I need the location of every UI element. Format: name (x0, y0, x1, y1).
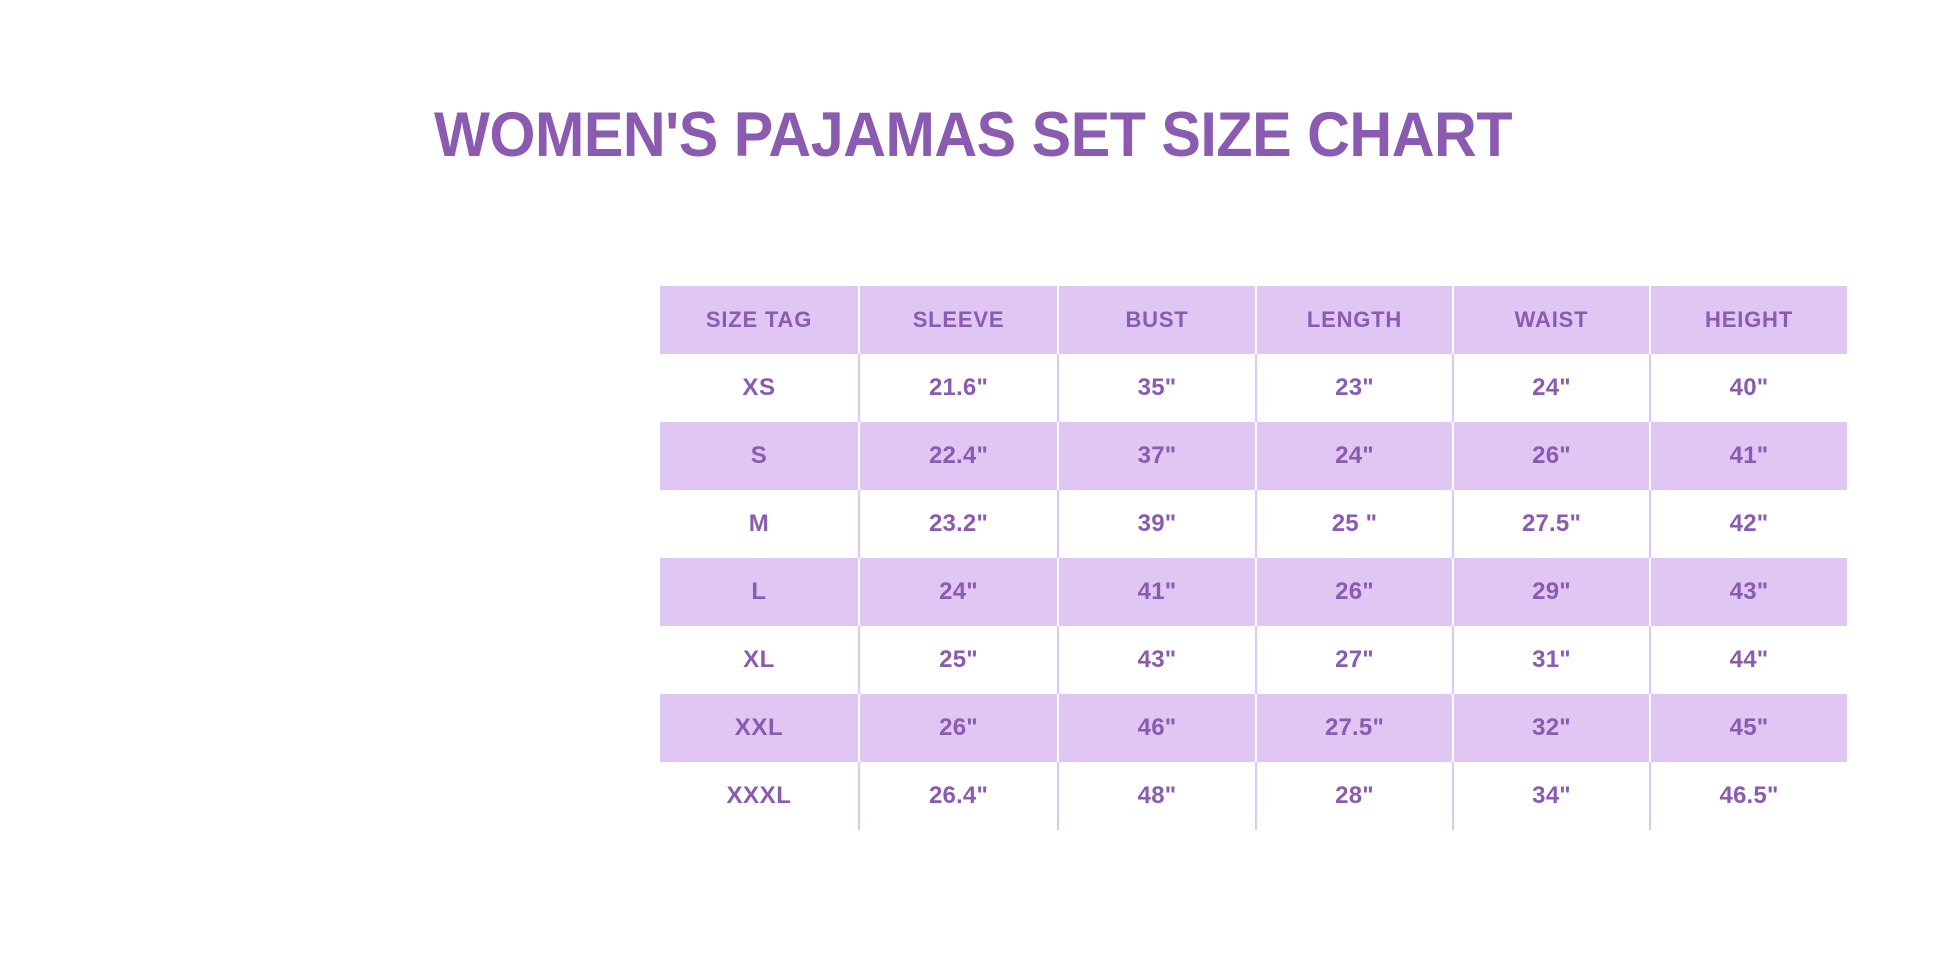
column-header-length: LENGTH (1256, 286, 1453, 354)
cell-size-tag: XL (660, 626, 859, 694)
cell-bust: 37" (1058, 422, 1256, 490)
cell-waist: 32" (1453, 694, 1650, 762)
cell-length: 28" (1256, 762, 1453, 830)
column-header-height: HEIGHT (1650, 286, 1847, 354)
cell-bust: 43" (1058, 626, 1256, 694)
column-header-size-tag: SIZE TAG (660, 286, 859, 354)
table-row: L 24" 41" 26" 29" 43" (660, 558, 1847, 626)
size-chart-table: SIZE TAG SLEEVE BUST LENGTH WAIST HEIGHT… (660, 286, 1847, 830)
cell-sleeve: 23.2" (859, 490, 1058, 558)
cell-length: 26" (1256, 558, 1453, 626)
cell-sleeve: 26" (859, 694, 1058, 762)
cell-length: 25 " (1256, 490, 1453, 558)
cell-bust: 48" (1058, 762, 1256, 830)
cell-size-tag: XXL (660, 694, 859, 762)
table-row: XS 21.6" 35" 23" 24" 40" (660, 354, 1847, 422)
cell-bust: 39" (1058, 490, 1256, 558)
cell-sleeve: 26.4" (859, 762, 1058, 830)
cell-length: 23" (1256, 354, 1453, 422)
cell-size-tag: S (660, 422, 859, 490)
table-row: S 22.4" 37" 24" 26" 41" (660, 422, 1847, 490)
cell-size-tag: XS (660, 354, 859, 422)
cell-waist: 26" (1453, 422, 1650, 490)
cell-size-tag: L (660, 558, 859, 626)
cell-height: 46.5" (1650, 762, 1847, 830)
size-chart-table-container: SIZE TAG SLEEVE BUST LENGTH WAIST HEIGHT… (660, 286, 1847, 830)
cell-height: 41" (1650, 422, 1847, 490)
cell-size-tag: M (660, 490, 859, 558)
cell-height: 40" (1650, 354, 1847, 422)
cell-height: 42" (1650, 490, 1847, 558)
table-row: XL 25" 43" 27" 31" 44" (660, 626, 1847, 694)
table-body: XS 21.6" 35" 23" 24" 40" S 22.4" 37" 24"… (660, 354, 1847, 830)
cell-size-tag: XXXL (660, 762, 859, 830)
cell-bust: 35" (1058, 354, 1256, 422)
cell-waist: 24" (1453, 354, 1650, 422)
table-header: SIZE TAG SLEEVE BUST LENGTH WAIST HEIGHT (660, 286, 1847, 354)
cell-waist: 27.5" (1453, 490, 1650, 558)
cell-bust: 41" (1058, 558, 1256, 626)
column-header-waist: WAIST (1453, 286, 1650, 354)
cell-waist: 34" (1453, 762, 1650, 830)
size-chart-page: WOMEN'S PAJAMAS SET SIZE CHART SIZE TAG … (0, 0, 1946, 973)
cell-bust: 46" (1058, 694, 1256, 762)
cell-sleeve: 21.6" (859, 354, 1058, 422)
table-row: XXL 26" 46" 27.5" 32" 45" (660, 694, 1847, 762)
table-row: M 23.2" 39" 25 " 27.5" 42" (660, 490, 1847, 558)
cell-length: 27" (1256, 626, 1453, 694)
cell-length: 24" (1256, 422, 1453, 490)
cell-sleeve: 25" (859, 626, 1058, 694)
cell-sleeve: 22.4" (859, 422, 1058, 490)
cell-height: 44" (1650, 626, 1847, 694)
cell-waist: 29" (1453, 558, 1650, 626)
table-row: XXXL 26.4" 48" 28" 34" 46.5" (660, 762, 1847, 830)
column-header-bust: BUST (1058, 286, 1256, 354)
cell-sleeve: 24" (859, 558, 1058, 626)
column-header-sleeve: SLEEVE (859, 286, 1058, 354)
page-title: WOMEN'S PAJAMAS SET SIZE CHART (58, 104, 1887, 167)
cell-height: 43" (1650, 558, 1847, 626)
table-header-row: SIZE TAG SLEEVE BUST LENGTH WAIST HEIGHT (660, 286, 1847, 354)
cell-length: 27.5" (1256, 694, 1453, 762)
cell-waist: 31" (1453, 626, 1650, 694)
cell-height: 45" (1650, 694, 1847, 762)
